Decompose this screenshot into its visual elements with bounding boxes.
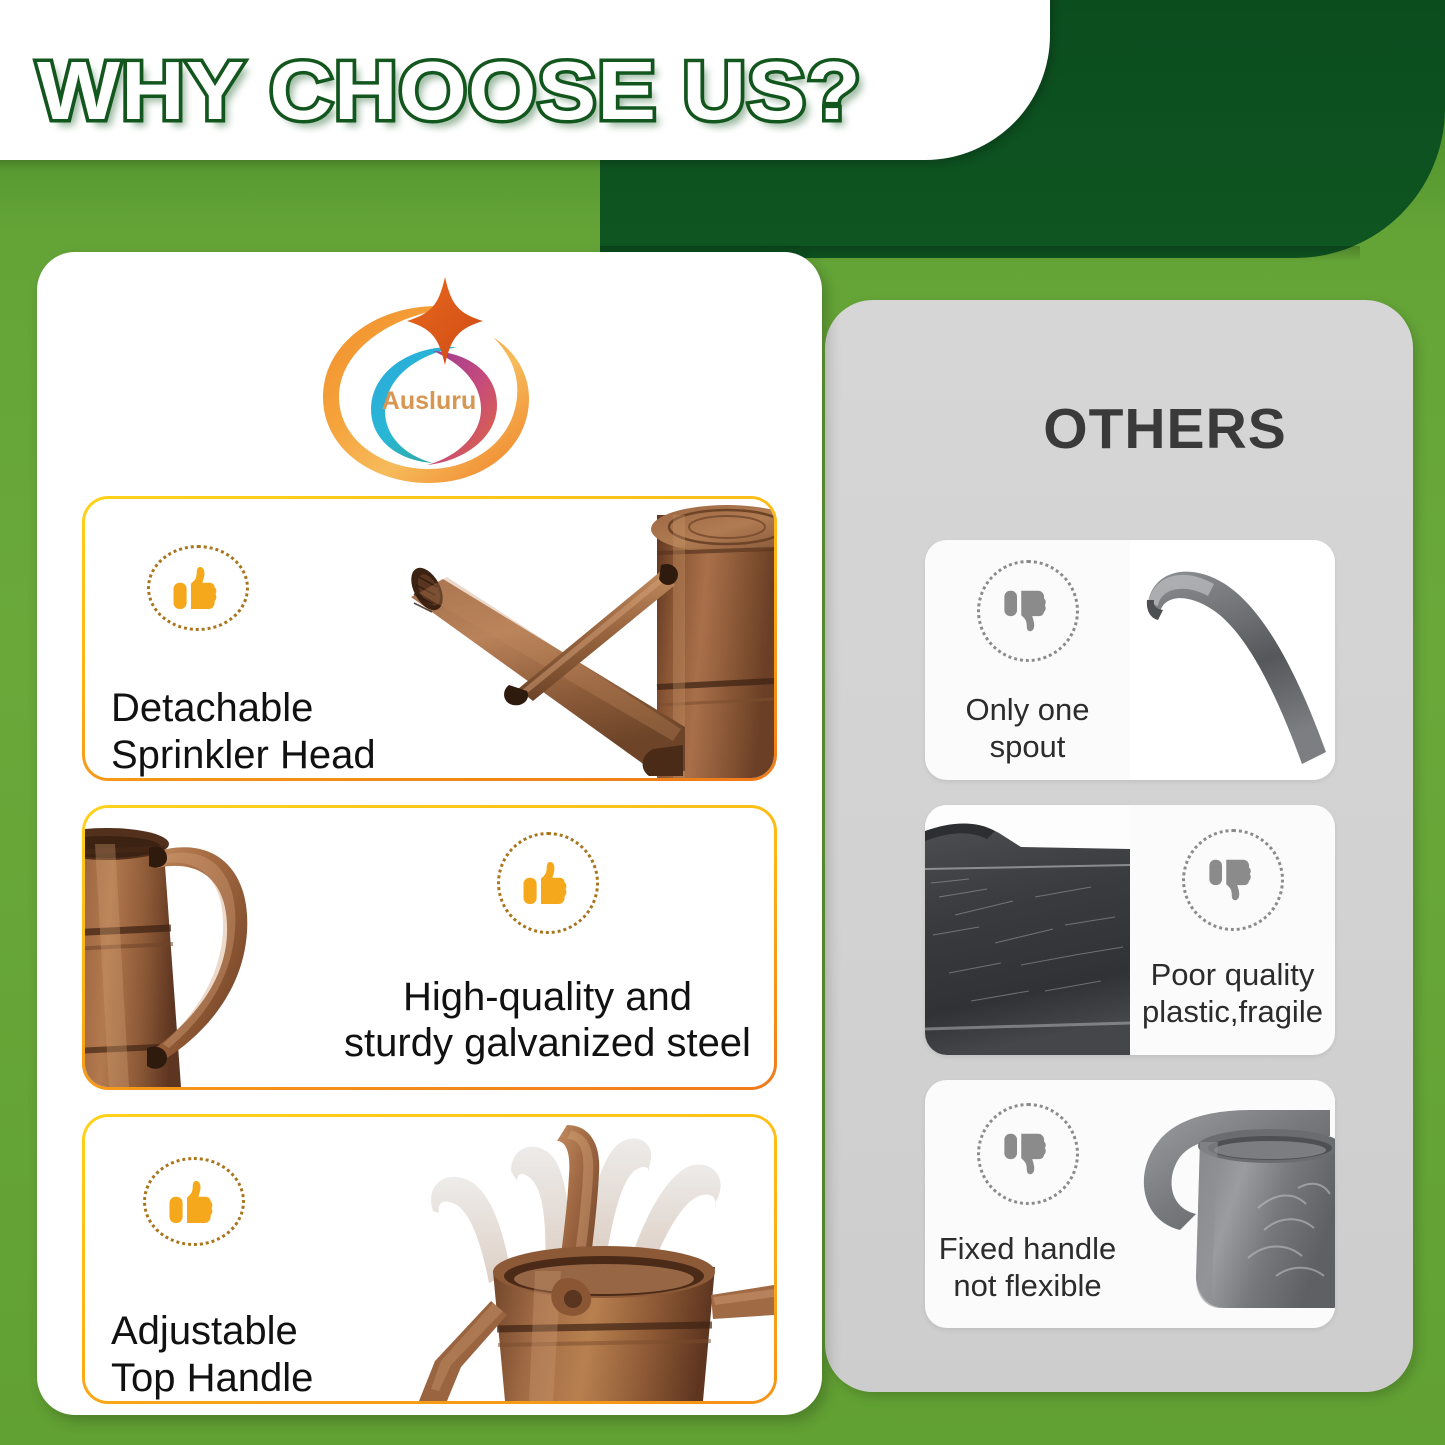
thumbs-up-glyph bbox=[166, 1174, 222, 1230]
thumbs-down-glyph bbox=[1001, 584, 1055, 638]
thumbs-down-icon bbox=[977, 1103, 1079, 1205]
feature-card-detachable-sprinkler-head: Detachable Sprinkler Head bbox=[82, 496, 777, 781]
gray-plastic-curved-spout-photo bbox=[1130, 540, 1335, 780]
feature-card-high-quality-steel: High-quality and sturdy galvanized steel bbox=[82, 805, 777, 1090]
gray-plastic-watering-can-photo bbox=[1130, 1080, 1335, 1328]
scratched-dark-plastic-surface-photo bbox=[925, 805, 1130, 1055]
feature-card-3-content: Adjustable Top Handle bbox=[85, 1117, 385, 1401]
feature-card-2-label: High-quality and sturdy galvanized steel bbox=[344, 974, 751, 1067]
feature-card-1-label: Detachable Sprinkler Head bbox=[111, 685, 385, 778]
thumbs-up-icon bbox=[497, 832, 599, 934]
others-panel: OTHERS bbox=[825, 300, 1413, 1392]
copper-can-handle-illustration bbox=[85, 808, 335, 1087]
ausluru-swoosh-star-logo: Ausluru bbox=[305, 269, 555, 491]
scratched-plastic-illustration bbox=[925, 805, 1130, 1055]
thumbs-up-icon bbox=[147, 545, 249, 631]
others-card-3-content: Fixed handle not flexible bbox=[925, 1080, 1130, 1328]
feature-card-2-content: High-quality and sturdy galvanized steel bbox=[335, 808, 774, 1087]
others-card-1-content: Only one spout bbox=[925, 540, 1130, 780]
feature-card-3-label: Adjustable Top Handle bbox=[111, 1308, 385, 1401]
plastic-watering-can-illustration bbox=[1130, 1080, 1335, 1328]
curved-spout-illustration bbox=[1130, 540, 1335, 780]
copper-watering-can-body-handle-photo bbox=[85, 808, 335, 1087]
adjustable-handle-illustration bbox=[385, 1117, 774, 1401]
copper-watering-can-adjustable-handle-photo bbox=[385, 1117, 774, 1401]
thumbs-up-glyph bbox=[520, 855, 576, 911]
thumbs-down-icon bbox=[977, 560, 1079, 662]
others-title: OTHERS bbox=[825, 396, 1413, 462]
others-card-fixed-handle: Fixed handle not flexible bbox=[925, 1080, 1335, 1328]
others-card-2-label: Poor quality plastic,fragile bbox=[1142, 957, 1323, 1030]
brand-logo: Ausluru bbox=[37, 262, 822, 497]
page-title: WHY CHOOSE US? bbox=[37, 40, 1108, 140]
thumbs-down-glyph bbox=[1206, 853, 1260, 907]
copper-watering-can-spout-photo bbox=[385, 499, 774, 778]
thumbs-down-icon bbox=[1182, 829, 1284, 931]
others-card-2-content: Poor quality plastic,fragile bbox=[1130, 805, 1335, 1055]
others-card-only-one-spout: Only one spout bbox=[925, 540, 1335, 780]
feature-card-1-content: Detachable Sprinkler Head bbox=[85, 499, 385, 778]
others-card-1-label: Only one spout bbox=[931, 692, 1124, 765]
thumbs-up-glyph bbox=[170, 560, 226, 616]
brand-wordmark: Ausluru bbox=[381, 387, 475, 415]
others-card-3-label: Fixed handle not flexible bbox=[939, 1231, 1117, 1304]
thumbs-up-icon bbox=[143, 1157, 245, 1246]
feature-card-adjustable-top-handle: Adjustable Top Handle bbox=[82, 1114, 777, 1404]
our-product-panel: Ausluru bbox=[37, 252, 822, 1415]
others-card-poor-quality-plastic: Poor quality plastic,fragile bbox=[925, 805, 1335, 1055]
others-title-text: OTHERS bbox=[1043, 397, 1287, 461]
infographic-page: WHY CHOOSE US? OTHERS bbox=[0, 0, 1445, 1445]
copper-spout-illustration bbox=[385, 499, 774, 778]
thumbs-down-glyph bbox=[1001, 1127, 1055, 1181]
